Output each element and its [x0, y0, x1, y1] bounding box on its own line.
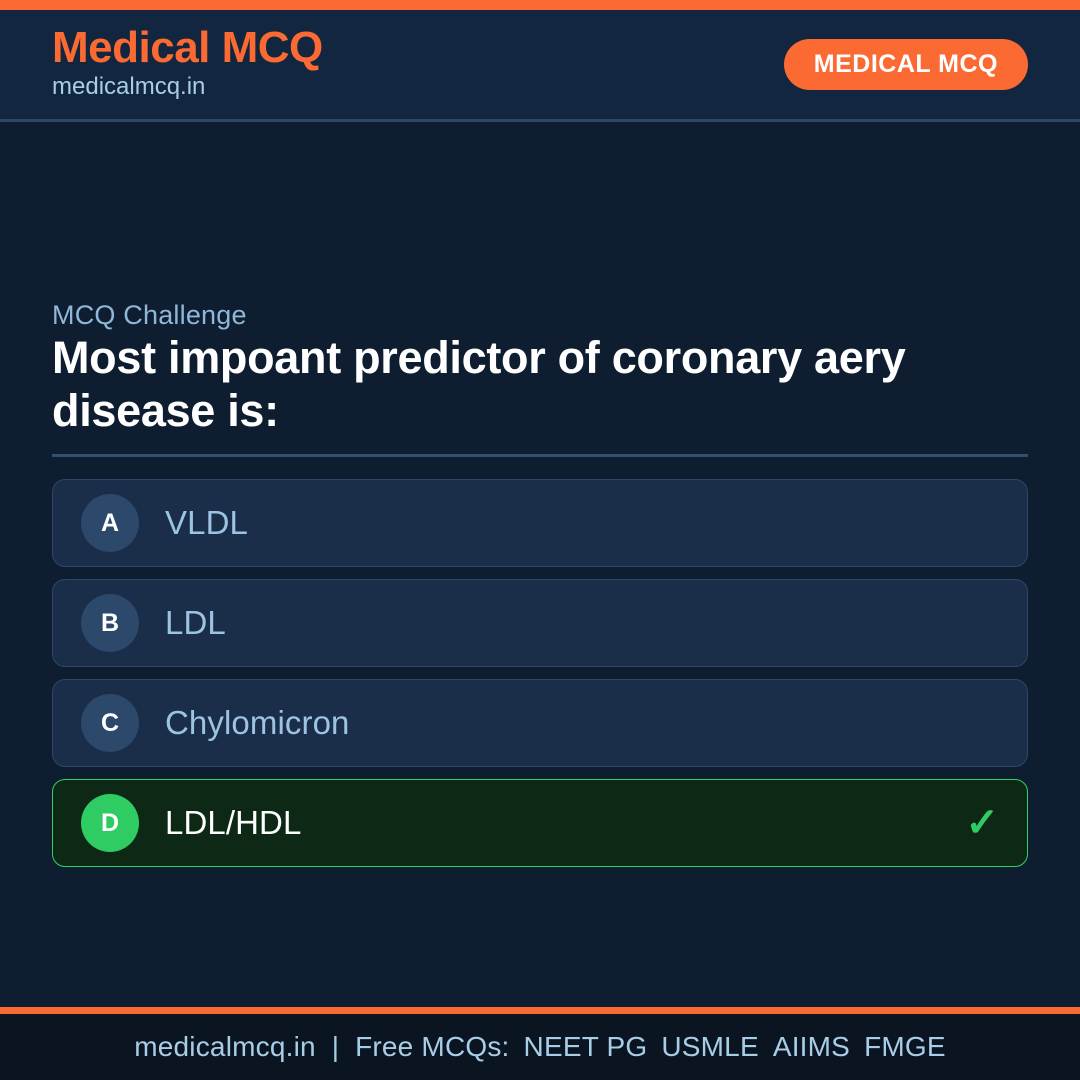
option-label: LDL [165, 604, 226, 642]
footer-exams-list: NEET PG USMLE AIIMS FMGE [524, 1031, 946, 1063]
check-icon: ✓ [965, 803, 999, 843]
footer-exam-fmge: FMGE [864, 1031, 946, 1063]
option-c[interactable]: C Chylomicron ✓ [52, 679, 1028, 767]
footer: medicalmcq.in | Free MCQs: NEET PG USMLE… [0, 1014, 1080, 1080]
option-letter-badge: C [81, 694, 139, 752]
footer-site: medicalmcq.in [134, 1031, 316, 1063]
footer-exam-aiims: AIIMS [773, 1031, 850, 1063]
options-list: A VLDL ✓ B LDL ✓ C Chylomicron ✓ D LDL/H… [52, 479, 1028, 879]
main-content: MCQ Challenge Most impoant predictor of … [0, 122, 1080, 1007]
option-b[interactable]: B LDL ✓ [52, 579, 1028, 667]
mcq-card: Medical MCQ medicalmcq.in MEDICAL MCQ MC… [0, 0, 1080, 1080]
question-divider [52, 454, 1028, 457]
footer-separator: | [316, 1031, 355, 1063]
option-label: LDL/HDL [165, 804, 301, 842]
option-letter-badge: B [81, 594, 139, 652]
question-text: Most impoant predictor of coronary aery … [52, 332, 912, 437]
option-letter-badge: A [81, 494, 139, 552]
brand-badge: MEDICAL MCQ [784, 39, 1028, 90]
brand-title: Medical MCQ [52, 25, 323, 71]
brand-block: Medical MCQ medicalmcq.in [52, 25, 323, 104]
option-label: VLDL [165, 504, 248, 542]
option-a[interactable]: A VLDL ✓ [52, 479, 1028, 567]
footer-exam-neet-pg: NEET PG [524, 1031, 648, 1063]
option-d[interactable]: D LDL/HDL ✓ [52, 779, 1028, 867]
footer-exams-label: Free MCQs: [355, 1031, 509, 1063]
header: Medical MCQ medicalmcq.in MEDICAL MCQ [0, 10, 1080, 122]
brand-url: medicalmcq.in [52, 71, 323, 103]
question-label: MCQ Challenge [52, 300, 247, 331]
top-accent-bar [0, 0, 1080, 10]
footer-accent-bar [0, 1007, 1080, 1014]
footer-exam-usmle: USMLE [661, 1031, 758, 1063]
option-letter-badge: D [81, 794, 139, 852]
option-label: Chylomicron [165, 704, 350, 742]
